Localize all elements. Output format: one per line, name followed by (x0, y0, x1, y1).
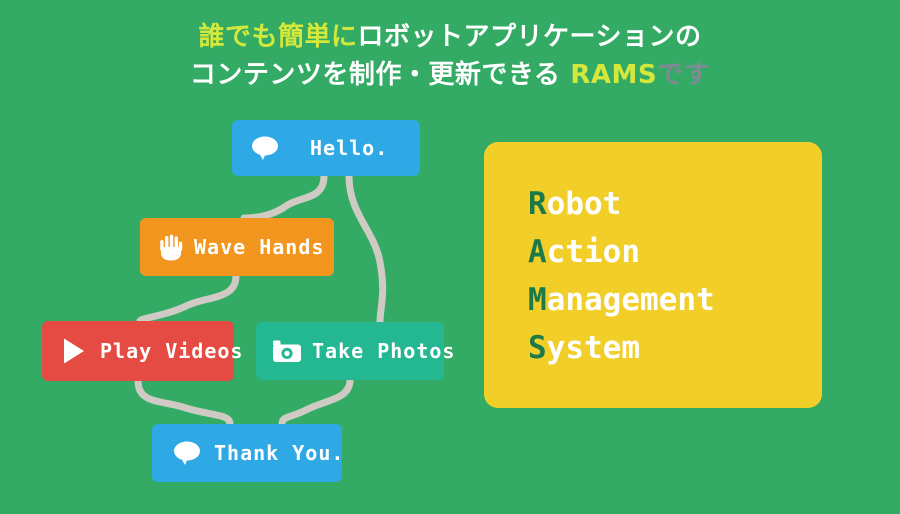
rams-word-action: ction (547, 234, 640, 270)
headline-line1-accent: 誰でも簡単に (199, 22, 358, 52)
flow-node-thank-you-label: Thank You. (214, 441, 344, 465)
flow-node-play-videos[interactable]: Play Videos (42, 321, 234, 381)
connector-photos-to-thanks (282, 380, 350, 424)
raised-hand-icon (158, 233, 184, 261)
rams-acronym-panel: Robot Action Management System (484, 142, 822, 408)
headline-line2-white: コンテンツを制作・更新できる (190, 60, 560, 90)
rams-initial-m: M (528, 282, 547, 318)
camera-icon (272, 339, 302, 363)
headline-line1-white: ロボットアプリケーションの (358, 22, 702, 52)
headline-line-1: 誰でも簡単にロボットアプリケーションの (0, 18, 900, 56)
headline-line2-accent: RAMS (570, 60, 657, 90)
page-title: 誰でも簡単にロボットアプリケーションの コンテンツを制作・更新できるRAMSです (0, 18, 900, 94)
rams-row-action: Action (528, 228, 822, 276)
flow-node-hello[interactable]: Hello. (232, 120, 420, 176)
rams-initial-a: A (528, 234, 547, 270)
play-triangle-icon (62, 337, 86, 365)
flow-node-take-photos[interactable]: Take Photos (256, 322, 444, 380)
flow-node-wave-hands[interactable]: Wave Hands (140, 218, 334, 276)
speech-bubble-icon (250, 135, 280, 161)
flow-node-take-photos-label: Take Photos (312, 339, 455, 363)
slide-canvas: 誰でも簡単にロボットアプリケーションの コンテンツを制作・更新できるRAMSです… (0, 0, 900, 514)
flow-node-thank-you[interactable]: Thank You. (152, 424, 342, 482)
rams-word-robot: obot (547, 186, 622, 222)
rams-row-robot: Robot (528, 180, 822, 228)
rams-row-management: Management (528, 276, 822, 324)
flow-node-wave-hands-label: Wave Hands (194, 235, 324, 259)
connector-hello-to-photos (349, 176, 383, 322)
flow-node-hello-label: Hello. (310, 136, 388, 160)
connector-play-to-thanks (138, 381, 230, 424)
rams-word-system: ystem (547, 330, 640, 366)
connector-wave-to-play (140, 276, 236, 321)
rams-initial-r: R (528, 186, 547, 222)
rams-row-system: System (528, 324, 822, 372)
flow-node-play-videos-label: Play Videos (100, 339, 243, 363)
connector-hello-to-wave (244, 176, 324, 218)
rams-initial-s: S (528, 330, 547, 366)
speech-bubble-icon (172, 440, 202, 466)
rams-word-management: anagement (547, 282, 715, 318)
headline-line-2: コンテンツを制作・更新できるRAMSです (0, 56, 900, 94)
headline-line2-muted: です (657, 60, 710, 90)
